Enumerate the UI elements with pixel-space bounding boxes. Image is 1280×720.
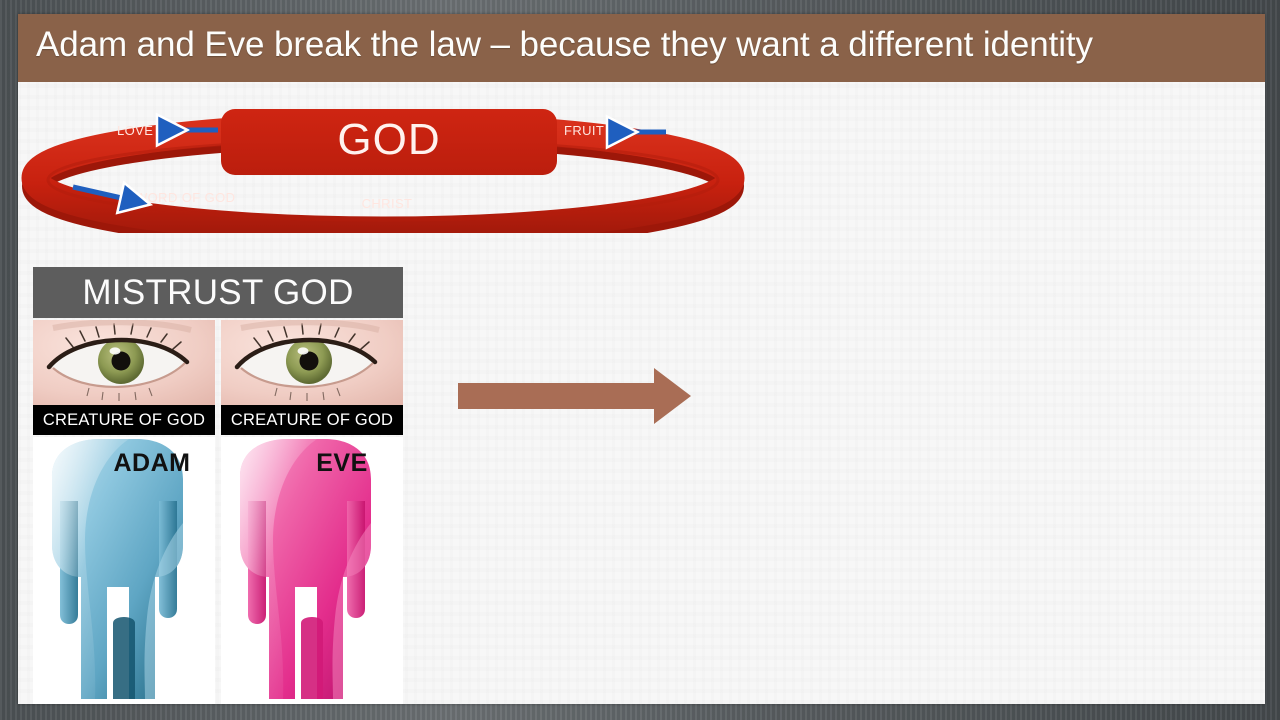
figure-row: ADAM: [33, 437, 403, 704]
god-box-label: GOD: [337, 115, 440, 164]
cycle-label-love: LOVE: [117, 123, 153, 138]
eye-image-left: [33, 320, 215, 405]
slide-title-bar: Adam and Eve break the law – because the…: [18, 14, 1265, 82]
figure-adam: ADAM: [33, 437, 215, 704]
creature-caption-right-label: CREATURE OF GOD: [231, 411, 393, 430]
creature-caption-left: CREATURE OF GOD: [33, 405, 215, 435]
eve-figure-leg-gap: [301, 617, 323, 699]
cycle-label-christ: CHRIST: [362, 196, 413, 211]
cycle-label-fruit: FRUIT: [564, 123, 604, 138]
figure-eve: EVE: [221, 437, 403, 704]
creature-caption-left-label: CREATURE OF GOD: [43, 411, 205, 430]
eye-image-row: [33, 320, 403, 405]
mistrust-god-header: MISTRUST GOD: [33, 267, 403, 318]
slide-canvas: Adam and Eve break the law – because the…: [18, 14, 1265, 704]
mistrust-god-header-label: MISTRUST GOD: [82, 273, 353, 313]
brown-right-arrow-icon: [458, 366, 693, 426]
mistrust-god-panel: MISTRUST GOD: [33, 267, 403, 704]
creature-caption-right: CREATURE OF GOD: [221, 405, 403, 435]
adam-figure-leg-gap: [113, 617, 135, 699]
creature-caption-row: CREATURE OF GOD CREATURE OF GOD: [33, 405, 403, 435]
slide-viewer: Adam and Eve break the law – because the…: [0, 0, 1280, 720]
eye-image-right: [221, 320, 403, 405]
god-christ-cycle-graphic: GOD LOVE FRUIT WORD OF GOD CHRIST: [18, 88, 748, 228]
cycle-label-word-of-god: WORD OF GOD: [135, 190, 235, 205]
eve-figure-label: EVE: [221, 449, 403, 478]
slide-title-text: Adam and Eve break the law – because the…: [36, 25, 1093, 65]
adam-figure-label: ADAM: [33, 449, 215, 478]
